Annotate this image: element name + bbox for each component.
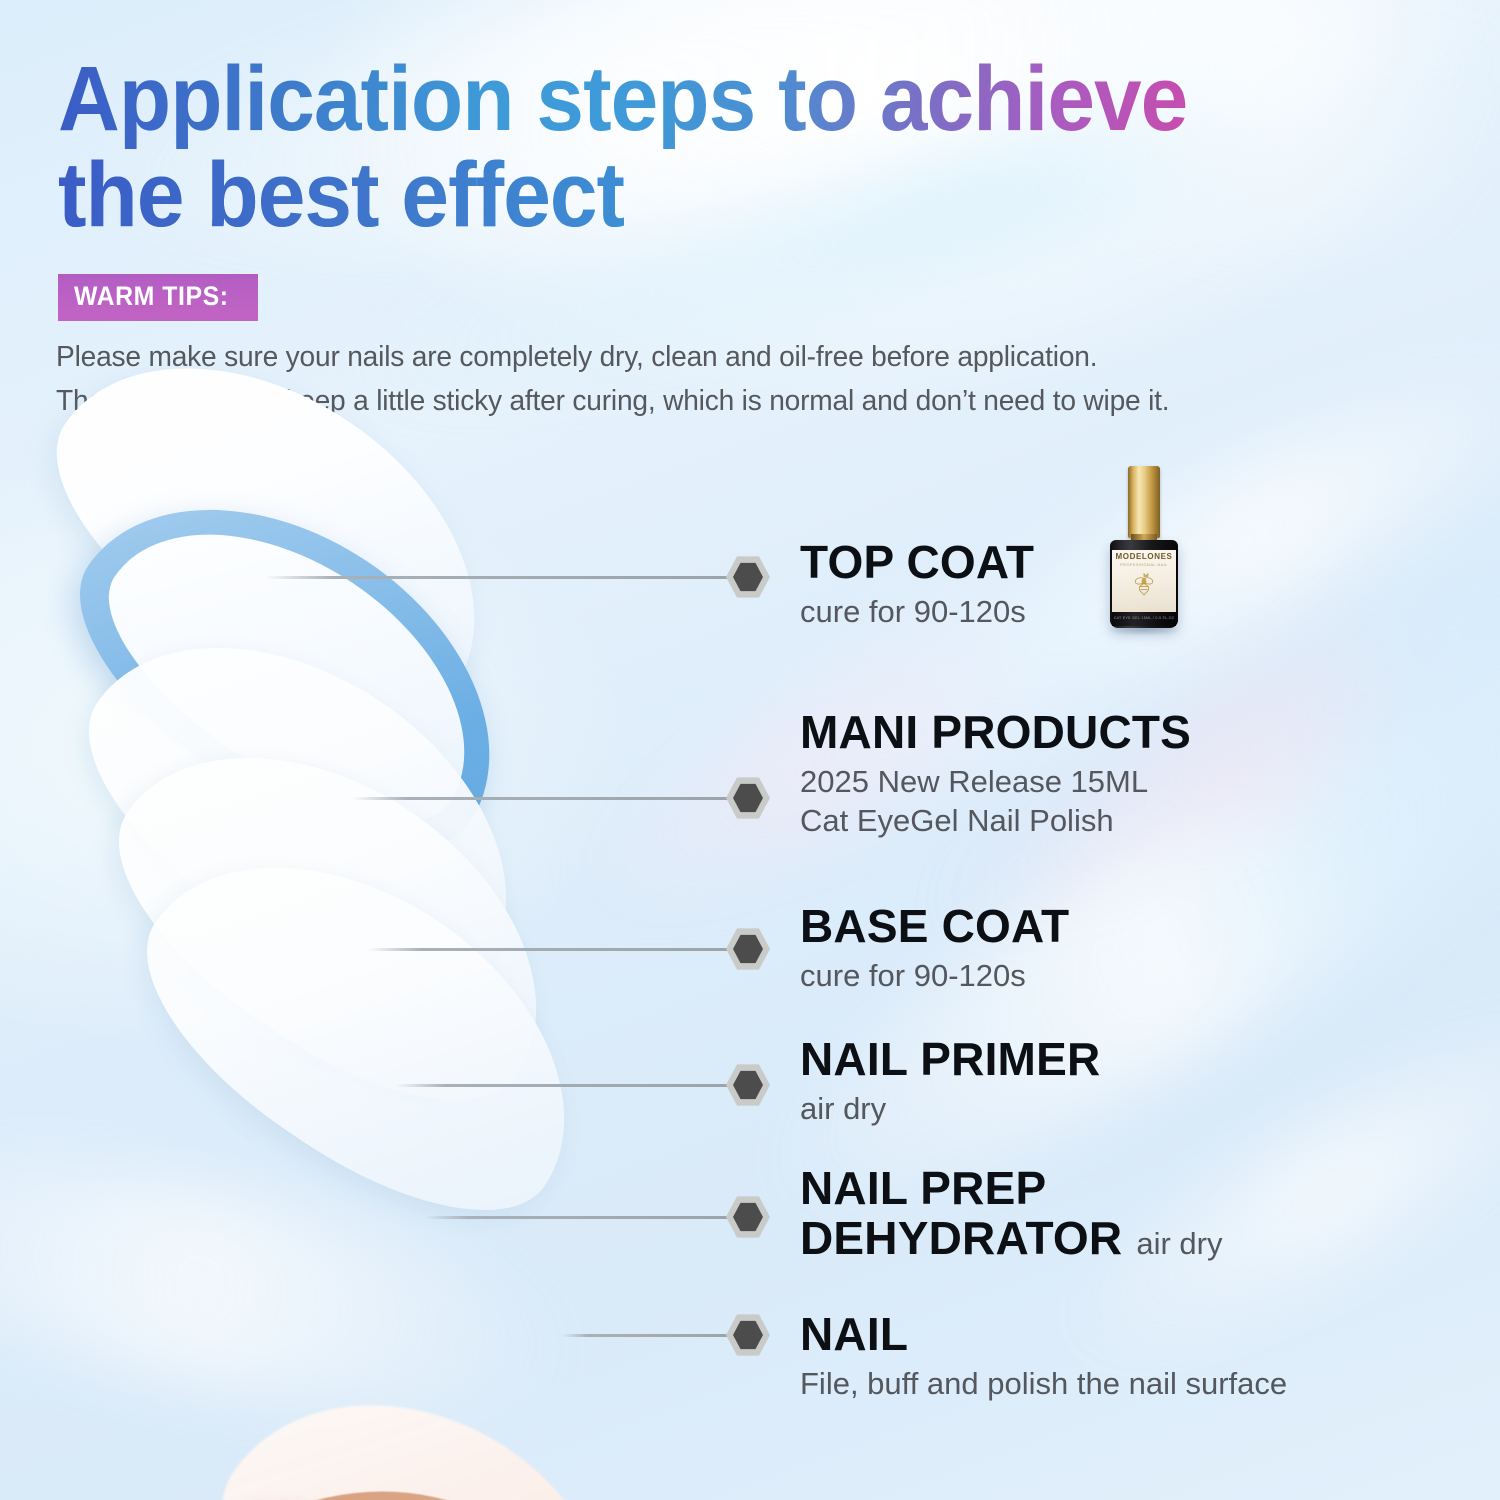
bottle-brand-text: MODELONES (1112, 552, 1176, 561)
step-subtitle: cure for 90-120s (800, 956, 1069, 996)
leader-line-mani (352, 797, 750, 800)
page-title-line2: the best effect (58, 148, 1360, 244)
hexagon-marker-icon (726, 1313, 770, 1357)
hexagon-marker-icon (726, 555, 770, 599)
leader-line-base-coat (368, 948, 750, 951)
bottle-cap (1128, 466, 1160, 538)
step-label-nail-primer: NAIL PRIMER air dry (800, 1035, 1100, 1128)
step-label-base-coat: BASE COAT cure for 90-120s (800, 902, 1069, 995)
bee-crest-icon (1129, 570, 1159, 600)
step-subtitle: cure for 90-120s (800, 592, 1034, 632)
hexagon-marker-icon (726, 1063, 770, 1107)
step-title: MANI PRODUCTS (800, 708, 1191, 758)
warm-tips-line-1: Please make sure your nails are complete… (56, 336, 1424, 380)
page-title-line1: Application steps to achieve (58, 48, 1187, 150)
step-title-line-2-text: DEHYDRATOR (800, 1212, 1122, 1264)
step-subtitle: air dry (800, 1089, 1100, 1129)
page-title: Application steps to achieve the best ef… (58, 52, 1360, 243)
bottle-brand-subtext: PROFESSIONAL NAIL (1112, 562, 1176, 567)
leader-line-primer (396, 1084, 750, 1087)
step-label-nail-prep-dehydrator: NAIL PREP DEHYDRATORair dry (800, 1164, 1222, 1263)
hexagon-marker-icon (726, 776, 770, 820)
infographic-canvas: Application steps to achieve the best ef… (0, 0, 1500, 1500)
step-label-top-coat: TOP COAT cure for 90-120s (800, 538, 1034, 631)
warm-tips-badge: WARM TIPS: (58, 274, 258, 321)
bottle-foot-text: CAT EYE GEL 15ML / 0.5 FL.OZ (1112, 616, 1176, 620)
step-subtitle: 2025 New Release 15ML (800, 762, 1191, 802)
product-bottle-image: MODELONES PROFESSIONAL NAIL CAT EYE GEL … (1106, 466, 1182, 634)
step-title: NAIL (800, 1310, 1287, 1360)
step-title: TOP COAT (800, 538, 1034, 588)
step-title: BASE COAT (800, 902, 1069, 952)
hexagon-marker-icon (726, 927, 770, 971)
hexagon-marker-icon (726, 1195, 770, 1239)
natural-nail (173, 1329, 686, 1500)
step-label-mani-products: MANI PRODUCTS 2025 New Release 15ML Cat … (800, 708, 1191, 841)
step-title: NAIL PRIMER (800, 1035, 1100, 1085)
step-subtitle: File, buff and polish the nail surface (800, 1364, 1287, 1404)
step-title-line-1: NAIL PREP (800, 1164, 1222, 1214)
step-label-nail: NAIL File, buff and polish the nail surf… (800, 1310, 1287, 1403)
leader-line-top-coat (265, 576, 750, 579)
leader-line-nail (562, 1334, 750, 1337)
leader-line-dehydrator (424, 1216, 750, 1219)
step-inline-subtitle: air dry (1136, 1226, 1222, 1261)
step-title-line-2: DEHYDRATORair dry (800, 1214, 1222, 1264)
warm-tips-badge-label: WARM TIPS: (74, 281, 229, 312)
step-subtitle-2: Cat EyeGel Nail Polish (800, 801, 1191, 841)
